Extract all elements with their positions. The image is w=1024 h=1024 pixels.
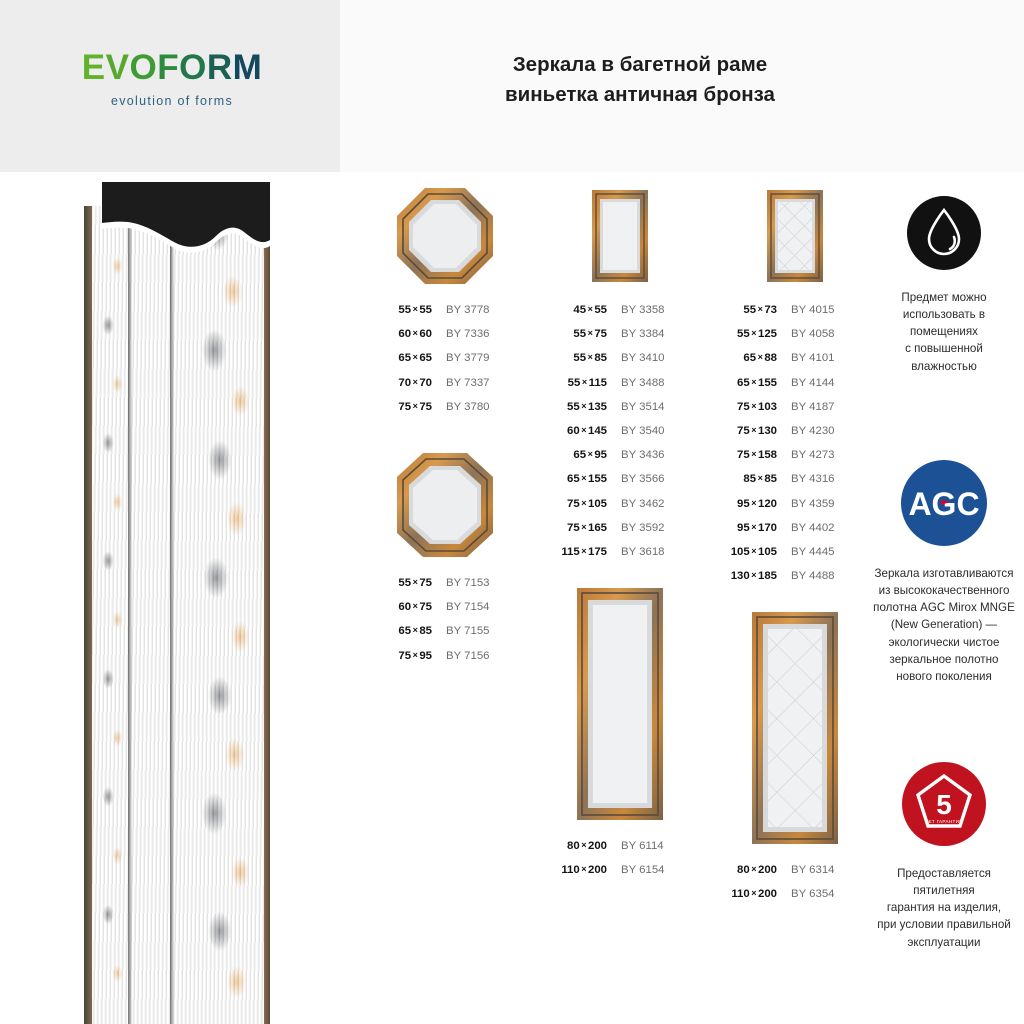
- frame-groove-1: [128, 182, 132, 1024]
- size-separator-icon: ×: [586, 304, 594, 314]
- warranty-5-years-icon: 5 ЛЕТ ГАРАНТИИ: [902, 762, 986, 846]
- feature-text-line: эксплуатации: [864, 934, 1024, 951]
- size-separator-icon: ×: [411, 304, 419, 314]
- size-separator-icon: ×: [756, 352, 764, 362]
- size-value: 60×145: [545, 425, 607, 437]
- size-value: 55×73: [715, 304, 777, 316]
- feature-text-line: полотна AGC Mirox MNGE: [864, 599, 1024, 616]
- size-separator-icon: ×: [750, 401, 758, 411]
- catalog-page: EVOFORM evolution of forms Зеркала в баг…: [0, 0, 1024, 1024]
- feature-text-line: Предмет можно: [864, 289, 1024, 306]
- article-code: BY 7156: [446, 650, 490, 662]
- size-value: 55×85: [545, 352, 607, 364]
- size-value: 65×85: [370, 625, 432, 637]
- product-column-rect-engraved: 55×73BY 401555×125BY 405865×88BY 410165×…: [715, 186, 875, 913]
- frame-edge-right: [264, 182, 270, 1024]
- feature-text-line: влажностью: [864, 358, 1024, 375]
- feature-text-line: с повышенной: [864, 340, 1024, 357]
- product-column-octagon: 55×55BY 377860×60BY 733665×65BY 377970×7…: [370, 186, 520, 674]
- size-separator-icon: ×: [580, 546, 588, 556]
- size-row[interactable]: 70×70BY 7337: [370, 377, 520, 401]
- size-row[interactable]: 75×105BY 3462: [545, 498, 695, 522]
- size-value: 75×158: [715, 449, 777, 461]
- feature-agc: AGC Зеркала изготавливаютсяиз высококаче…: [864, 460, 1024, 685]
- size-value: 75×105: [545, 498, 607, 510]
- size-separator-icon: ×: [750, 546, 758, 556]
- article-code: BY 3384: [621, 328, 665, 340]
- mirror-thumbnail-rect-tall-engraved[interactable]: [740, 608, 850, 848]
- size-value: 45×55: [545, 304, 607, 316]
- frame-wood-grain: [84, 182, 270, 1024]
- size-value: 65×65: [370, 352, 432, 364]
- size-value: 55×135: [545, 401, 607, 413]
- brand-letter: M: [233, 50, 263, 85]
- size-value: 60×60: [370, 328, 432, 340]
- size-value: 85×85: [715, 473, 777, 485]
- article-code: BY 6354: [791, 888, 835, 900]
- warranty-number: 5: [936, 789, 952, 820]
- article-code: BY 4273: [791, 449, 835, 461]
- size-separator-icon: ×: [580, 840, 588, 850]
- feature-text-line: зеркальное полотно: [864, 651, 1024, 668]
- octagon-mirror-art: [395, 186, 495, 286]
- agc-logo-icon: AGC: [901, 460, 987, 546]
- size-separator-icon: ×: [756, 473, 764, 483]
- size-value: 55×55: [370, 304, 432, 316]
- size-list-rect-tall-engraved: 80×200BY 6314110×200BY 6354: [715, 864, 875, 912]
- brand-letter: O: [129, 50, 157, 85]
- size-separator-icon: ×: [580, 377, 588, 387]
- size-list-octagon-tall: 55×75BY 715360×75BY 715465×85BY 715575×9…: [370, 577, 520, 674]
- brand-letter: R: [207, 50, 233, 85]
- feature-moisture-text: Предмет можноиспользовать впомещенияхс п…: [864, 289, 1024, 375]
- size-separator-icon: ×: [411, 401, 419, 411]
- size-value: 65×88: [715, 352, 777, 364]
- size-separator-icon: ×: [580, 864, 588, 874]
- size-value: 70×70: [370, 377, 432, 389]
- size-row[interactable]: 80×200BY 6114: [545, 840, 695, 864]
- size-value: 75×95: [370, 650, 432, 662]
- feature-text-line: экологически чистое: [864, 634, 1024, 651]
- feature-text-line: нового поколения: [864, 668, 1024, 685]
- size-separator-icon: ×: [411, 625, 419, 635]
- mirror-thumbnail-rect-tall-plain[interactable]: [565, 584, 675, 824]
- size-separator-icon: ×: [586, 352, 594, 362]
- article-code: BY 3779: [446, 352, 490, 364]
- feature-text-line: (New Generation) —: [864, 616, 1024, 633]
- feature-agc-text: Зеркала изготавливаютсяиз высококачестве…: [864, 565, 1024, 685]
- size-separator-icon: ×: [580, 425, 588, 435]
- size-separator-icon: ×: [411, 328, 419, 338]
- size-separator-icon: ×: [750, 328, 758, 338]
- size-row[interactable]: 55×73BY 4015: [715, 304, 875, 328]
- octagon-tall-mirror-art: [395, 451, 495, 559]
- mirror-thumbnail-rect-engraved[interactable]: [745, 186, 845, 286]
- size-row[interactable]: 65×95BY 3436: [545, 449, 695, 473]
- feature-text-line: при условии правильной: [864, 916, 1024, 933]
- size-row[interactable]: 130×185BY 4488: [715, 570, 875, 594]
- size-separator-icon: ×: [750, 377, 758, 387]
- page-title-line-1: Зеркала в багетной раме: [360, 50, 920, 80]
- mirror-thumbnail-rect-plain[interactable]: [570, 186, 670, 286]
- size-row[interactable]: 55×125BY 4058: [715, 328, 875, 352]
- size-value: 130×185: [715, 570, 777, 582]
- feature-text-line: Зеркала изготавливаются: [864, 565, 1024, 582]
- size-value: 110×200: [715, 888, 777, 900]
- size-row[interactable]: 80×200BY 6314: [715, 864, 875, 888]
- article-code: BY 3488: [621, 377, 665, 389]
- brand-logo-wordmark: EVOFORM: [62, 50, 282, 85]
- size-separator-icon: ×: [411, 650, 419, 660]
- size-row[interactable]: 45×55BY 3358: [545, 304, 695, 328]
- frame-groove-2: [170, 182, 174, 1024]
- article-code: BY 4445: [791, 546, 835, 558]
- size-separator-icon: ×: [750, 888, 758, 898]
- size-row[interactable]: 65×88BY 4101: [715, 352, 875, 376]
- brand-letter: F: [157, 50, 179, 85]
- mirror-thumbnail-octagon[interactable]: [395, 186, 495, 286]
- rect-tall-mirror-art: [565, 584, 675, 824]
- brand-letter: O: [179, 50, 207, 85]
- size-list-rect-tall-plain: 80×200BY 6114110×200BY 6154: [545, 840, 695, 888]
- feature-text-line: использовать в: [864, 306, 1024, 323]
- article-code: BY 3410: [621, 352, 665, 364]
- size-value: 95×170: [715, 522, 777, 534]
- size-row[interactable]: 60×60BY 7336: [370, 328, 520, 352]
- size-row[interactable]: 75×158BY 4273: [715, 449, 875, 473]
- frame-edge-left: [84, 182, 92, 1024]
- size-value: 115×175: [545, 546, 607, 558]
- article-code: BY 3540: [621, 425, 665, 437]
- article-code: BY 3514: [621, 401, 665, 413]
- size-row[interactable]: 55×115BY 3488: [545, 377, 695, 401]
- warranty-caption: ЛЕТ ГАРАНТИИ: [925, 819, 963, 824]
- article-code: BY 3436: [621, 449, 665, 461]
- size-separator-icon: ×: [580, 522, 588, 532]
- feature-text-line: из высококачественного: [864, 582, 1024, 599]
- size-row[interactable]: 75×75BY 3780: [370, 401, 520, 425]
- size-row[interactable]: 95×120BY 4359: [715, 498, 875, 522]
- size-row[interactable]: 65×65BY 3779: [370, 352, 520, 376]
- article-code: BY 3618: [621, 546, 665, 558]
- size-value: 95×120: [715, 498, 777, 510]
- water-drop-icon: [907, 196, 981, 270]
- article-code: BY 4058: [791, 328, 835, 340]
- size-row[interactable]: 55×135BY 3514: [545, 401, 695, 425]
- article-code: BY 3566: [621, 473, 665, 485]
- article-code: BY 4402: [791, 522, 835, 534]
- feature-warranty: 5 ЛЕТ ГАРАНТИИ Предоставляетсяпятилетняя…: [864, 762, 1024, 951]
- rect-mirror-art: [570, 186, 670, 286]
- size-separator-icon: ×: [411, 601, 419, 611]
- article-code: BY 4316: [791, 473, 835, 485]
- size-row[interactable]: 85×85BY 4316: [715, 473, 875, 497]
- size-separator-icon: ×: [411, 352, 419, 362]
- size-row[interactable]: 65×155BY 3566: [545, 473, 695, 497]
- size-separator-icon: ×: [756, 304, 764, 314]
- mirror-thumbnail-octagon-tall[interactable]: [395, 451, 495, 559]
- size-separator-icon: ×: [580, 498, 588, 508]
- size-value: 55×75: [545, 328, 607, 340]
- size-row[interactable]: 55×75BY 3384: [545, 328, 695, 352]
- feature-text-line: Предоставляется: [864, 865, 1024, 882]
- feature-text-line: помещениях: [864, 323, 1024, 340]
- article-code: BY 7154: [446, 601, 490, 613]
- article-code: BY 4101: [791, 352, 835, 364]
- page-header: EVOFORM evolution of forms Зеркала в баг…: [0, 0, 1024, 172]
- size-value: 75×75: [370, 401, 432, 413]
- size-separator-icon: ×: [750, 425, 758, 435]
- article-code: BY 6114: [621, 840, 664, 852]
- article-code: BY 3358: [621, 304, 665, 316]
- size-row[interactable]: 75×165BY 3592: [545, 522, 695, 546]
- size-value: 110×200: [545, 864, 607, 876]
- article-code: BY 4359: [791, 498, 835, 510]
- rect-tall-engraved-mirror-art: [740, 608, 850, 848]
- size-value: 60×75: [370, 601, 432, 613]
- frame-profile-photo: [84, 182, 270, 1024]
- size-row[interactable]: 110×200BY 6154: [545, 864, 695, 888]
- size-value: 55×75: [370, 577, 432, 589]
- brand-letter: E: [82, 50, 106, 85]
- article-code: BY 4488: [791, 570, 835, 582]
- rect-engraved-mirror-art: [745, 186, 845, 286]
- feature-text-line: пятилетняя: [864, 882, 1024, 899]
- article-code: BY 7336: [446, 328, 490, 340]
- feature-warranty-text: Предоставляетсяпятилетняягарантия на изд…: [864, 865, 1024, 951]
- size-row[interactable]: 75×95BY 7156: [370, 650, 520, 674]
- frame-top-silhouette: [84, 182, 270, 272]
- article-code: BY 3462: [621, 498, 665, 510]
- size-row[interactable]: 75×103BY 4187: [715, 401, 875, 425]
- size-separator-icon: ×: [580, 401, 588, 411]
- size-row[interactable]: 105×105BY 4445: [715, 546, 875, 570]
- size-list-octagon: 55×55BY 377860×60BY 733665×65BY 377970×7…: [370, 304, 520, 425]
- size-value: 65×155: [715, 377, 777, 389]
- size-separator-icon: ×: [411, 577, 419, 587]
- size-value: 75×130: [715, 425, 777, 437]
- feature-text-line: гарантия на изделия,: [864, 899, 1024, 916]
- size-separator-icon: ×: [580, 473, 588, 483]
- size-value: 80×200: [715, 864, 777, 876]
- brand-logo: EVOFORM evolution of forms: [62, 50, 282, 108]
- page-title: Зеркала в багетной раме виньетка антична…: [360, 50, 920, 109]
- size-row[interactable]: 55×55BY 3778: [370, 304, 520, 328]
- size-value: 65×95: [545, 449, 607, 461]
- size-separator-icon: ×: [586, 449, 594, 459]
- article-code: BY 4015: [791, 304, 835, 316]
- size-row[interactable]: 55×85BY 3410: [545, 352, 695, 376]
- size-row[interactable]: 65×85BY 7155: [370, 625, 520, 649]
- page-title-line-2: виньетка античная бронза: [360, 80, 920, 110]
- article-code: BY 3780: [446, 401, 490, 413]
- article-code: BY 6154: [621, 864, 665, 876]
- article-code: BY 4230: [791, 425, 835, 437]
- size-value: 75×165: [545, 522, 607, 534]
- size-separator-icon: ×: [750, 498, 758, 508]
- size-row[interactable]: 95×170BY 4402: [715, 522, 875, 546]
- product-column-rect-plain: 45×55BY 335855×75BY 338455×85BY 341055×1…: [545, 186, 695, 888]
- article-code: BY 7153: [446, 577, 490, 589]
- article-code: BY 7337: [446, 377, 490, 389]
- size-separator-icon: ×: [750, 570, 758, 580]
- article-code: BY 3592: [621, 522, 665, 534]
- size-row[interactable]: 75×130BY 4230: [715, 425, 875, 449]
- size-list-rect-plain: 45×55BY 335855×75BY 338455×85BY 341055×1…: [545, 304, 695, 570]
- size-separator-icon: ×: [586, 328, 594, 338]
- size-separator-icon: ×: [411, 377, 419, 387]
- size-value: 65×155: [545, 473, 607, 485]
- article-code: BY 3778: [446, 304, 490, 316]
- size-value: 55×125: [715, 328, 777, 340]
- article-code: BY 4144: [791, 377, 835, 389]
- article-code: BY 4187: [791, 401, 835, 413]
- size-separator-icon: ×: [750, 449, 758, 459]
- brand-tagline: evolution of forms: [62, 94, 282, 108]
- brand-letter: V: [106, 50, 130, 85]
- article-code: BY 6314: [791, 864, 835, 876]
- size-separator-icon: ×: [750, 522, 758, 532]
- size-row[interactable]: 60×75BY 7154: [370, 601, 520, 625]
- size-value: 55×115: [545, 377, 607, 389]
- size-row[interactable]: 60×145BY 3540: [545, 425, 695, 449]
- size-value: 80×200: [545, 840, 607, 852]
- size-separator-icon: ×: [750, 864, 758, 874]
- article-code: BY 7155: [446, 625, 490, 637]
- feature-moisture: Предмет можноиспользовать впомещенияхс п…: [864, 196, 1024, 375]
- size-row[interactable]: 110×200BY 6354: [715, 888, 875, 912]
- size-value: 75×103: [715, 401, 777, 413]
- size-value: 105×105: [715, 546, 777, 558]
- size-list-rect-engraved: 55×73BY 401555×125BY 405865×88BY 410165×…: [715, 304, 875, 594]
- size-row[interactable]: 55×75BY 7153: [370, 577, 520, 601]
- size-row[interactable]: 65×155BY 4144: [715, 377, 875, 401]
- size-row[interactable]: 115×175BY 3618: [545, 546, 695, 570]
